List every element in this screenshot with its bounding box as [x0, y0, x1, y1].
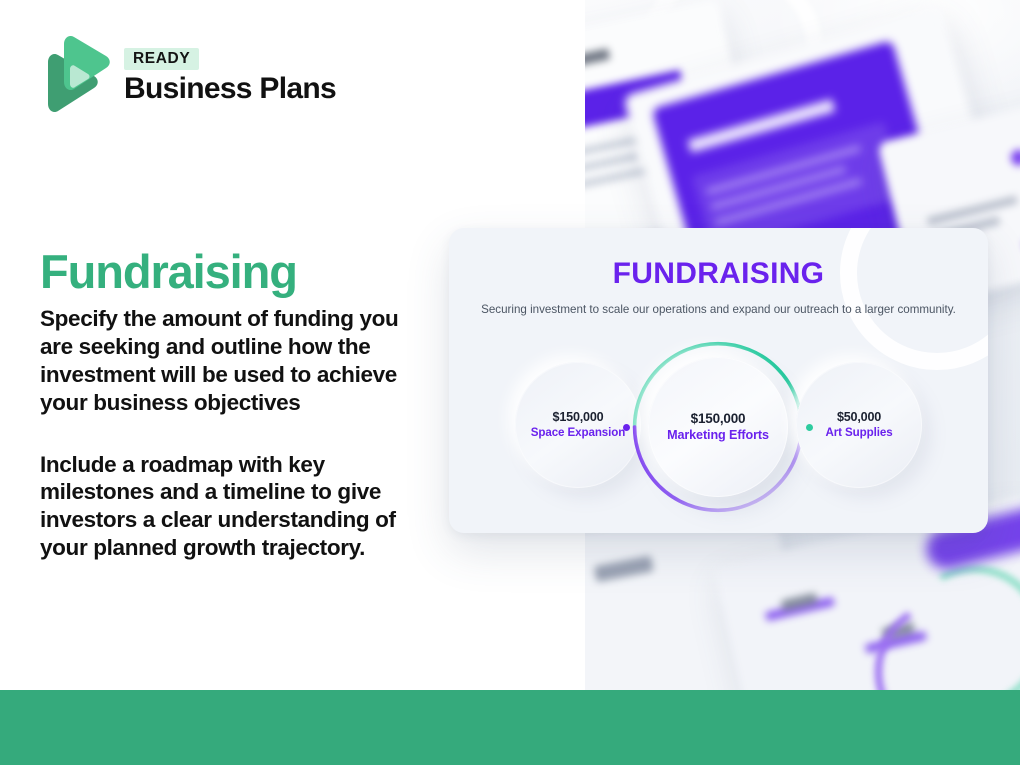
slide-root: READY Business Plans Fundraising Specify… [0, 0, 1020, 765]
body-copy: Specify the amount of funding you are se… [40, 305, 432, 562]
footer-bar [0, 690, 1020, 765]
funding-amount: $150,000 [691, 411, 746, 427]
play-arrow-logo-icon [40, 36, 110, 116]
funding-label: Art Supplies [825, 426, 892, 440]
funding-label: Marketing Efforts [667, 428, 769, 443]
paragraph-2: Include a roadmap with key milestones an… [40, 451, 432, 563]
brand-name: Business Plans [124, 73, 336, 105]
page-title: Fundraising [40, 246, 297, 298]
funding-circle-left: $150,000 Space Expansion [515, 362, 641, 488]
funding-circle-diagram: $150,000 Space Expansion [449, 340, 988, 515]
funding-circle-center-wrap: $150,000 Marketing Efforts [627, 336, 809, 518]
brand-wordmark: READY Business Plans [124, 48, 336, 105]
ready-badge: READY [124, 48, 199, 71]
card-subtitle: Securing investment to scale our operati… [449, 302, 988, 317]
funding-amount: $150,000 [553, 410, 604, 424]
funding-amount: $50,000 [837, 410, 881, 424]
node-dot-green-icon [806, 424, 813, 431]
featured-slide-card: FUNDRAISING Securing investment to scale… [449, 228, 988, 533]
node-dot-purple-icon [623, 424, 630, 431]
card-title: FUNDRAISING [449, 259, 988, 289]
paragraph-1: Specify the amount of funding you are se… [40, 305, 432, 417]
funding-label: Space Expansion [531, 426, 626, 440]
brand-logo: READY Business Plans [40, 36, 336, 116]
funding-circle-center: $150,000 Marketing Efforts [648, 357, 788, 497]
funding-circle-right: $50,000 Art Supplies [796, 362, 922, 488]
